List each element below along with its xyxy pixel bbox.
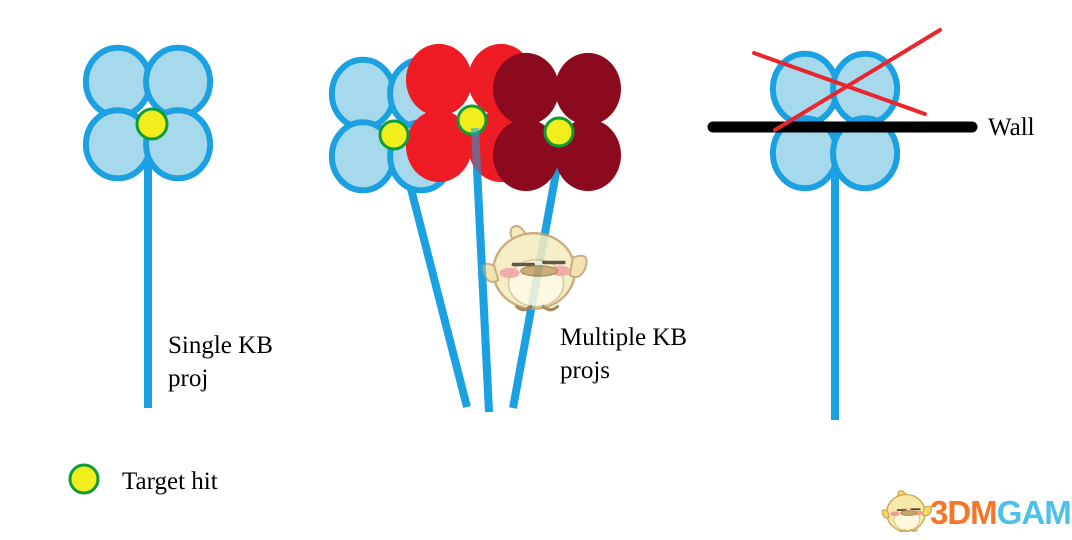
target-hit-marker xyxy=(70,465,98,493)
label-single-kb-proj: Single KB proj xyxy=(168,330,273,395)
label-target-hit: Target hit xyxy=(122,466,218,499)
diagram-svg xyxy=(0,0,1072,540)
target-hit-marker xyxy=(380,121,408,149)
petal xyxy=(332,60,394,128)
petal xyxy=(555,53,621,125)
petal xyxy=(146,48,210,116)
legend-swatch-layer xyxy=(70,465,98,493)
petal xyxy=(406,44,472,116)
watermark-text-game: GAME xyxy=(997,494,1072,531)
watermark-3dmgame: 3DMGAME xyxy=(878,486,1068,538)
diagram-canvas: Single KB proj Multiple KB projs Wall Ta… xyxy=(0,0,1072,540)
watermark-text-3dm: 3DM xyxy=(930,494,997,531)
mascot-overlay xyxy=(482,226,586,310)
watermark-text: 3DMGAME xyxy=(930,494,1072,532)
label-multiple-kb-projs: Multiple KB projs xyxy=(560,322,687,387)
label-wall: Wall xyxy=(988,112,1035,145)
target-hit-marker xyxy=(545,118,573,146)
petal xyxy=(493,53,559,125)
target-hit-marker xyxy=(137,109,167,139)
petal xyxy=(86,48,150,116)
flowers-layer xyxy=(86,44,897,191)
